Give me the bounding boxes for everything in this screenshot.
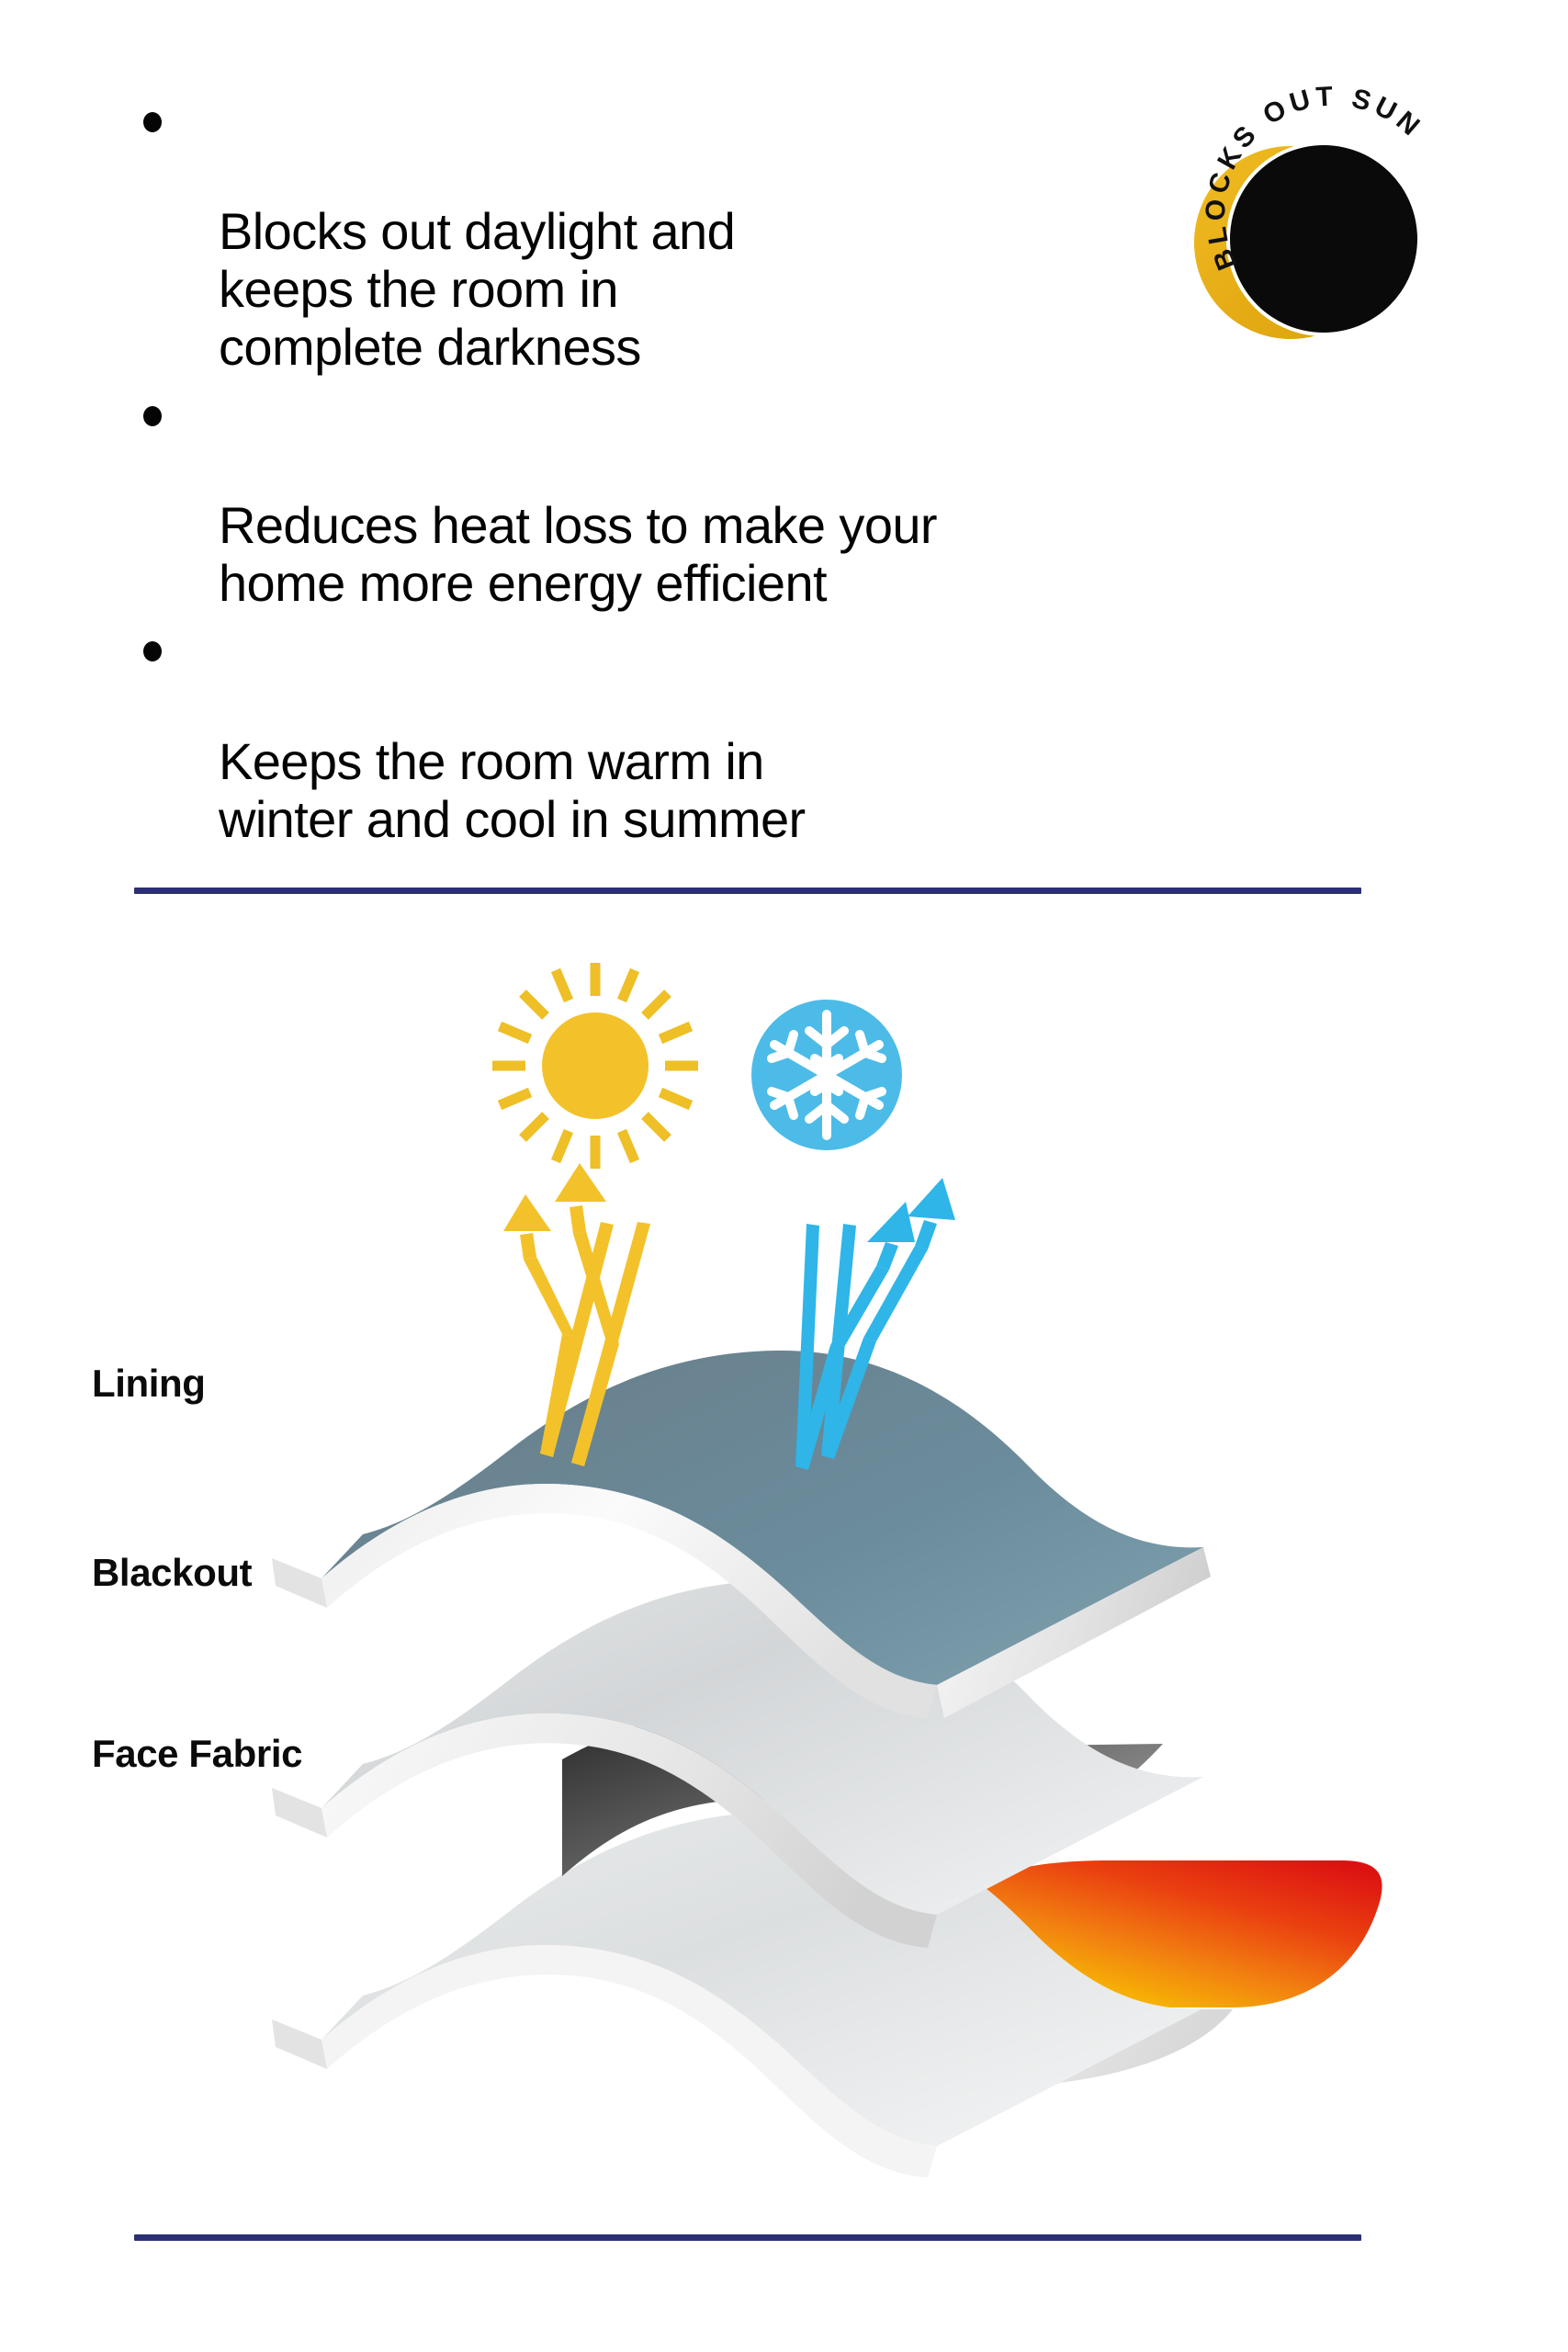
- benefit-text: Blocks out daylight and keeps the room i…: [219, 202, 735, 375]
- divider-top: [134, 888, 1361, 894]
- snowflake-icon: [751, 1000, 902, 1150]
- face-fabric-left-tip: [272, 2019, 327, 2069]
- benefit-item-blocks-daylight: Blocks out daylight and keeps the room i…: [138, 88, 1167, 377]
- layer-label-face-fabric: Face Fabric: [92, 1732, 302, 1776]
- lining-left-tip: [272, 1558, 327, 1608]
- sun-icon: [492, 963, 698, 1169]
- blackout-left-tip: [272, 1788, 327, 1837]
- layer-label-blackout: Blackout: [92, 1551, 252, 1595]
- benefits-list: Blocks out daylight and keeps the room i…: [138, 88, 1167, 854]
- benefit-text: Keeps the room warm in winter and cool i…: [219, 732, 806, 848]
- eclipse-disc: [1230, 145, 1417, 333]
- benefit-item-warm-winter-cool-summer: Keeps the room warm in winter and cool i…: [138, 617, 1167, 848]
- bullet-icon: [143, 406, 162, 426]
- bullet-icon: [143, 112, 162, 132]
- benefit-item-reduces-heat-loss: Reduces heat loss to make your home more…: [138, 382, 1167, 613]
- benefit-text: Reduces heat loss to make your home more…: [219, 496, 937, 612]
- blocks-out-sun-badge: BLOCKS OUT SUN: [1153, 72, 1493, 412]
- divider-bottom: [134, 2234, 1361, 2241]
- bullet-icon: [143, 641, 162, 661]
- layer-label-lining: Lining: [92, 1362, 206, 1406]
